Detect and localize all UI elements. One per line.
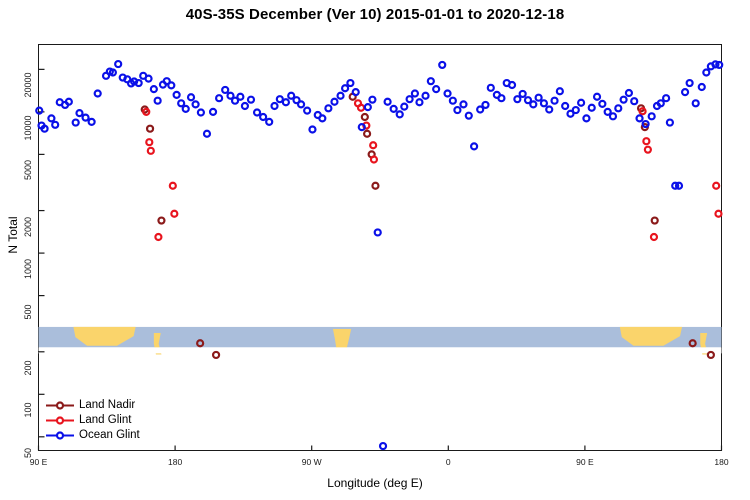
chart-legend: Land NadirLand GlintOcean Glint xyxy=(43,396,144,445)
data-point xyxy=(42,126,48,132)
data-point xyxy=(347,80,353,86)
data-point xyxy=(319,115,325,121)
legend-label: Ocean Glint xyxy=(75,429,140,442)
data-point xyxy=(391,106,397,112)
data-point xyxy=(428,78,434,84)
data-point xyxy=(222,87,228,93)
series-ocean_glint xyxy=(36,61,722,449)
legend-label: Land Glint xyxy=(75,414,131,427)
data-point xyxy=(95,90,101,96)
y-tick-label: 10000 xyxy=(23,111,33,145)
data-point xyxy=(667,120,673,126)
data-point xyxy=(401,104,407,110)
data-point xyxy=(454,107,460,113)
y-tick-label: 200 xyxy=(23,351,33,385)
legend-item-land_glint[interactable]: Land Glint xyxy=(45,413,140,428)
y-tick-label: 2000 xyxy=(23,210,33,244)
data-point xyxy=(583,115,589,121)
data-point xyxy=(615,105,621,111)
data-point xyxy=(682,89,688,95)
data-point xyxy=(193,101,199,107)
data-point xyxy=(397,111,403,117)
data-point xyxy=(557,88,563,94)
map-clip-bottom xyxy=(39,347,722,353)
data-point xyxy=(578,100,584,106)
y-tick-label: 1000 xyxy=(23,252,33,286)
y-tick-label: 500 xyxy=(23,295,33,329)
data-point xyxy=(498,95,504,101)
data-point xyxy=(362,114,368,120)
data-point xyxy=(148,148,154,154)
data-point xyxy=(594,94,600,100)
data-point xyxy=(687,80,693,86)
data-point xyxy=(621,97,627,103)
data-point xyxy=(631,98,637,104)
data-point xyxy=(610,113,616,119)
data-point xyxy=(466,113,472,119)
data-point xyxy=(482,102,488,108)
legend-circle xyxy=(57,403,63,409)
data-point xyxy=(198,109,204,115)
data-point xyxy=(514,96,520,102)
x-tick-label: 180 xyxy=(145,457,205,467)
data-point xyxy=(637,115,643,121)
data-point xyxy=(183,106,189,112)
data-point xyxy=(146,139,152,145)
data-point xyxy=(599,101,605,107)
data-point xyxy=(136,80,142,86)
data-point xyxy=(645,147,651,153)
data-point xyxy=(460,101,466,107)
data-point xyxy=(652,218,658,224)
data-point xyxy=(546,106,552,112)
data-point xyxy=(412,90,418,96)
data-point xyxy=(168,82,174,88)
data-point xyxy=(188,94,194,100)
data-point xyxy=(272,103,278,109)
data-point xyxy=(309,127,315,133)
data-point xyxy=(89,119,95,125)
data-point xyxy=(66,99,72,105)
data-point xyxy=(407,96,413,102)
data-point xyxy=(562,103,568,109)
map-ocean-band xyxy=(39,327,722,347)
data-point xyxy=(536,95,542,101)
data-point xyxy=(170,183,176,189)
data-point xyxy=(649,113,655,119)
data-point xyxy=(216,95,222,101)
data-point xyxy=(174,92,180,98)
data-point xyxy=(416,99,422,105)
data-point xyxy=(115,61,121,67)
y-tick-label: 20000 xyxy=(23,68,33,102)
data-point xyxy=(573,107,579,113)
data-point xyxy=(342,85,348,91)
data-point xyxy=(298,101,304,107)
data-point xyxy=(52,122,58,128)
data-point xyxy=(385,99,391,105)
data-point xyxy=(380,443,386,449)
data-point xyxy=(171,211,177,217)
legend-marker-icon xyxy=(45,414,75,427)
legend-circle xyxy=(57,433,63,439)
data-point xyxy=(715,211,721,217)
data-point xyxy=(713,183,719,189)
data-point xyxy=(439,62,445,68)
data-point xyxy=(471,143,477,149)
data-point xyxy=(76,110,82,116)
data-point xyxy=(155,98,161,104)
data-point xyxy=(210,109,216,115)
data-point xyxy=(146,76,152,82)
data-point xyxy=(643,138,649,144)
data-point xyxy=(36,108,42,114)
data-point xyxy=(423,93,429,99)
y-tick-label: 100 xyxy=(23,393,33,427)
data-point xyxy=(283,99,289,105)
series-land_nadir xyxy=(142,94,714,358)
data-point xyxy=(369,97,375,103)
data-point xyxy=(358,105,364,111)
data-point xyxy=(155,234,161,240)
legend-marker-icon xyxy=(45,429,75,442)
data-point xyxy=(260,114,266,120)
data-point xyxy=(237,94,243,100)
data-point xyxy=(147,126,153,132)
data-point xyxy=(178,100,184,106)
legend-circle xyxy=(57,418,63,424)
data-point xyxy=(248,97,254,103)
x-tick-label: 180 xyxy=(692,457,750,467)
data-point xyxy=(254,109,260,115)
data-point xyxy=(699,84,705,90)
data-point xyxy=(370,142,376,148)
data-point xyxy=(552,98,558,104)
x-tick-label: 90 E xyxy=(9,457,69,467)
data-point xyxy=(693,100,699,106)
data-point xyxy=(541,100,547,106)
data-point xyxy=(488,85,494,91)
data-point xyxy=(304,108,310,114)
data-point xyxy=(530,101,536,107)
legend-marker-icon xyxy=(45,399,75,412)
data-point xyxy=(364,131,370,137)
data-point xyxy=(433,86,439,92)
data-point xyxy=(338,93,344,99)
data-point xyxy=(371,156,377,162)
data-point xyxy=(353,89,359,95)
data-point xyxy=(375,229,381,235)
legend-item-land_nadir[interactable]: Land Nadir xyxy=(45,398,140,413)
legend-label: Land Nadir xyxy=(75,399,135,412)
y-axis-label: N Total xyxy=(6,195,20,275)
data-point xyxy=(266,119,272,125)
x-tick-label: 90 W xyxy=(282,457,342,467)
data-point xyxy=(213,352,219,358)
data-point xyxy=(372,183,378,189)
data-point xyxy=(708,352,714,358)
data-point xyxy=(626,90,632,96)
data-point xyxy=(651,234,657,240)
legend-symbol-svg xyxy=(45,414,75,427)
data-point xyxy=(331,99,337,105)
x-axis-label: Longitude (deg E) xyxy=(0,476,750,490)
data-point xyxy=(359,124,365,130)
data-point xyxy=(589,105,595,111)
data-point xyxy=(158,218,164,224)
legend-symbol-svg xyxy=(45,399,75,412)
chart-container: 40S-35S December (Ver 10) 2015-01-01 to … xyxy=(0,0,750,500)
data-point xyxy=(204,131,210,137)
legend-symbol-svg xyxy=(45,429,75,442)
data-point xyxy=(151,86,157,92)
legend-item-ocean_glint[interactable]: Ocean Glint xyxy=(45,428,140,443)
data-point xyxy=(520,91,526,97)
data-point xyxy=(83,115,89,121)
data-point xyxy=(658,100,664,106)
data-point xyxy=(325,105,331,111)
data-point xyxy=(242,103,248,109)
data-point xyxy=(450,98,456,104)
series-land_glint xyxy=(143,100,721,240)
data-point xyxy=(73,120,79,126)
x-tick-label: 0 xyxy=(418,457,478,467)
data-point xyxy=(48,115,54,121)
data-point xyxy=(445,90,451,96)
data-point xyxy=(509,82,515,88)
x-tick-label: 90 E xyxy=(555,457,615,467)
data-point xyxy=(703,70,709,76)
y-tick-label: 5000 xyxy=(23,153,33,187)
data-point xyxy=(663,95,669,101)
data-point xyxy=(365,104,371,110)
